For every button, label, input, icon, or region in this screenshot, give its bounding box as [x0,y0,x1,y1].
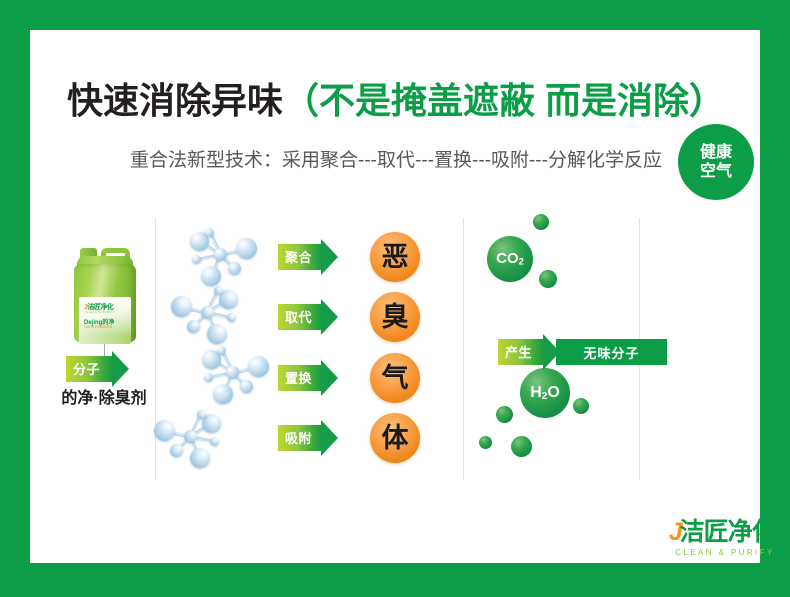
arrow-reaction-3: 置换 [278,365,322,391]
odorless-molecule-bar: 无味分子 [556,339,667,365]
odor-character-badge: 恶 [370,232,420,282]
molecule-node [204,373,213,382]
poster-card: 快速消除异味（不是掩盖遮蔽 而是消除） 重合法新型技术：采用聚合---取代---… [30,30,760,563]
bottle-label-logo-sub: CLEAN & PURIFY [86,310,115,314]
arrow-molecule-input-label: 分子 [66,363,100,376]
brand-logo: J洁匠净化® CLEAN & PURIFY [650,520,790,557]
subtitle: 重合法新型技术：采用聚合---取代---置换---吸附---分解化学反应 [60,145,732,172]
molecule-node [170,444,183,457]
headline-black: 快速消除异味 [67,80,283,121]
bottle-label-english: ODOR REMOVER [84,325,112,329]
molecule-node [240,380,253,393]
arrow-reaction-label: 取代 [278,311,312,324]
molecule-node [205,228,214,237]
sphere-co2: CO2 [487,236,533,282]
molecule-node [192,255,201,264]
product-column: J洁匠净化 CLEAN & PURIFY Dejing的净 ODOR REMOV… [58,236,150,466]
bubble-5 [479,436,492,449]
bottle-body: J洁匠净化 CLEAN & PURIFY Dejing的净 ODOR REMOV… [74,264,136,342]
byproduct-panel: CO2 H2O 产生 无味分子 [463,208,639,490]
odor-character-badge: 臭 [370,292,420,342]
arrow-head-icon [321,420,338,456]
page-title: 快速消除异味（不是掩盖遮蔽 而是消除） [60,80,732,121]
odor-character-badge: 气 [370,353,420,403]
arrow-reaction-label: 聚合 [278,251,312,264]
molecule-node [190,448,210,468]
sphere-co2-label: CO2 [496,251,524,267]
molecule-node [171,296,192,317]
bubble-6 [511,436,532,457]
arrow-head-icon [321,299,338,335]
arrow-produce: 产生 [498,339,544,365]
molecule-node [187,320,200,333]
molecule-node [154,420,175,441]
sphere-h2o-label: H2O [530,385,560,402]
healthy-air-badge: 健康 空气 [678,124,754,200]
molecule-cluster-icon [178,222,258,288]
arrow-reaction-label: 置换 [278,372,312,385]
bubble-2 [539,270,557,288]
arrow-reaction-label: 吸附 [278,432,312,445]
process-diagram: J洁匠净化 CLEAN & PURIFY Dejing的净 ODOR REMOV… [30,208,760,498]
molecule-node [214,248,227,261]
brand-tagline: CLEAN & PURIFY [650,548,790,557]
product-bottle-image: J洁匠净化 CLEAN & PURIFY Dejing的净 ODOR REMOV… [74,246,136,342]
brand-logo-name: 洁匠净化 [680,518,776,546]
molecule-cluster-icon [153,404,233,470]
healthy-air-line1: 健康 [700,143,732,162]
molecule-node [248,356,269,377]
odor-character-badge: 体 [370,413,420,463]
bubble-1 [533,214,549,230]
arrow-reaction-4: 吸附 [278,425,322,451]
molecule-node [184,430,197,443]
arrow-reaction-1: 聚合 [278,244,322,270]
arrow-head-icon [112,351,129,387]
bubble-3 [496,406,513,423]
molecule-node [226,366,239,379]
arrow-molecule-input: 分子 [66,356,113,382]
healthy-air-line2: 空气 [700,162,732,181]
molecule-node [197,410,206,419]
molecule-node [201,306,214,319]
headline-green: （不是掩盖遮蔽 而是消除） [283,80,725,121]
brand-registered-mark: ® [776,523,782,533]
sphere-h2o: H2O [520,368,570,418]
molecule-node [228,262,241,275]
bottle-label: J洁匠净化 CLEAN & PURIFY Dejing的净 ODOR REMOV… [79,297,131,344]
molecule-cluster-icon [170,280,250,346]
molecule-node [236,238,257,259]
arrow-produce-label: 产生 [498,346,532,359]
poster-root: 快速消除异味（不是掩盖遮蔽 而是消除） 重合法新型技术：采用聚合---取代---… [0,0,790,597]
arrow-head-icon [321,239,338,275]
molecule-node [210,437,219,446]
molecule-node [227,313,236,322]
bubble-4 [573,398,589,414]
molecule-node [217,346,226,355]
product-caption: 的净·除臭剂 [58,384,150,408]
molecule-node [214,286,223,295]
molecule-node [213,384,233,404]
molecule-cluster-icon [190,340,270,406]
brand-logo-main: J洁匠净化® [650,520,790,545]
arrow-head-icon [321,360,338,396]
arrow-reaction-2: 取代 [278,304,322,330]
